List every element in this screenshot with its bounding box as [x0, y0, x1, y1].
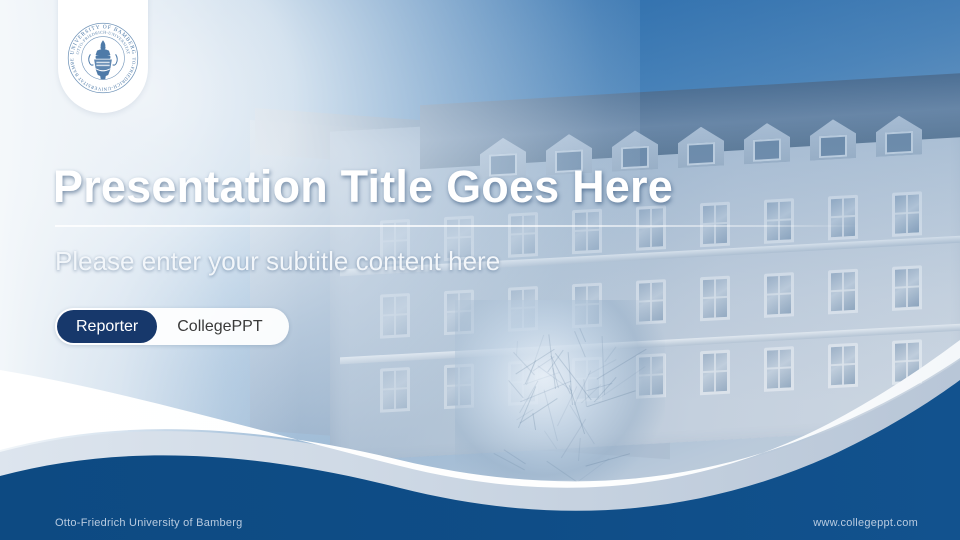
seal-crest-icon	[89, 40, 118, 79]
decorative-wave	[0, 340, 960, 540]
presentation-slide: UNIVERSITY OF BAMBERG OTTO-FRIEDRICH-UNI…	[0, 0, 960, 540]
logo-tab: UNIVERSITY OF BAMBERG OTTO-FRIEDRICH-UNI…	[58, 0, 148, 113]
footer-left-text: Otto-Friedrich University of Bamberg	[55, 517, 243, 529]
footer-right-text[interactable]: www.collegeppt.com	[813, 517, 918, 529]
reporter-value: CollegePPT	[157, 318, 284, 336]
page-title: Presentation Title Goes Here	[53, 161, 673, 213]
reporter-label: Reporter	[57, 310, 157, 343]
title-divider	[55, 225, 860, 227]
page-subtitle: Please enter your subtitle content here	[55, 246, 500, 277]
university-seal-icon: UNIVERSITY OF BAMBERG OTTO-FRIEDRICH-UNI…	[66, 21, 140, 95]
